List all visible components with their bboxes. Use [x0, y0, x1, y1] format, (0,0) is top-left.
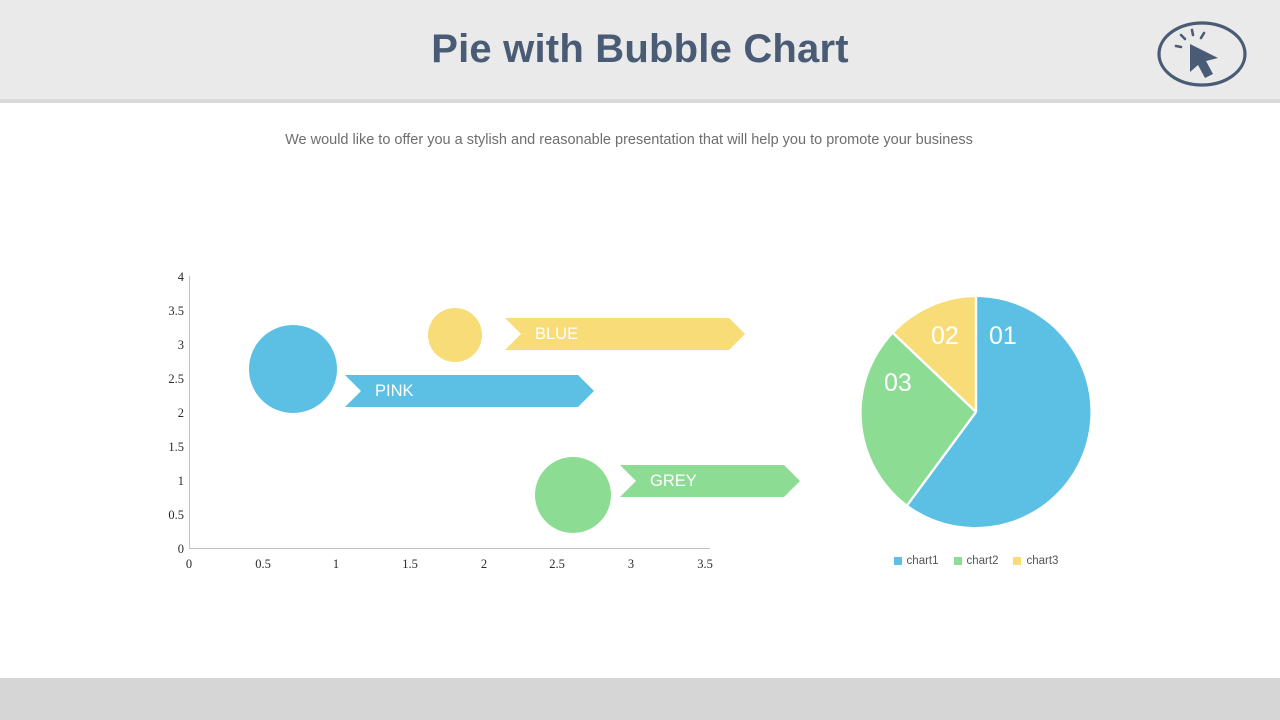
banner-blue[interactable]: BLUE	[505, 318, 745, 350]
legend-item-chart1[interactable]: chart1	[894, 555, 939, 567]
bubble-pink[interactable]	[249, 325, 337, 413]
banner-pink[interactable]: PINK	[345, 375, 594, 407]
y-tick: 3.5	[140, 304, 184, 319]
y-tick: 0	[140, 542, 184, 557]
x-tick: 2	[464, 557, 504, 572]
legend-swatch-icon	[1013, 557, 1021, 565]
legend-swatch-icon	[954, 557, 962, 565]
x-axis-line	[189, 548, 710, 549]
x-tick: 3	[611, 557, 651, 572]
x-tick: 3.5	[685, 557, 725, 572]
subtitle-text: We would like to offer you a stylish and…	[0, 132, 1258, 148]
legend-label: chart3	[1026, 555, 1058, 567]
x-tick: 1.5	[390, 557, 430, 572]
bubble-blue[interactable]	[428, 308, 482, 362]
pie-chart: 01 02 03 chart1 chart2 chart3	[856, 292, 1096, 582]
y-axis-ticks: 4 3.5 3 2.5 2 1.5 1 0.5 0	[140, 265, 184, 548]
y-tick: 2.5	[140, 372, 184, 387]
legend-label: chart1	[907, 555, 939, 567]
legend-item-chart2[interactable]: chart2	[954, 555, 999, 567]
pie-label-02: 02	[931, 322, 959, 351]
banner-grey-label: GREY	[650, 465, 697, 497]
bubble-chart: 4 3.5 3 2.5 2 1.5 1 0.5 0 0 0.5 1 1.5 2 …	[140, 265, 760, 585]
pie-label-03: 03	[884, 369, 912, 398]
banner-pink-label: PINK	[375, 375, 414, 407]
pie-label-01: 01	[989, 322, 1017, 351]
banner-blue-label: BLUE	[535, 318, 578, 350]
header-divider	[0, 99, 1280, 103]
bubble-grey[interactable]	[535, 457, 611, 533]
x-tick: 0	[169, 557, 209, 572]
y-tick: 1	[140, 474, 184, 489]
x-tick: 0.5	[243, 557, 283, 572]
pie-svg[interactable]	[856, 292, 1096, 532]
footer-band	[0, 678, 1280, 720]
pie-legend: chart1 chart2 chart3	[856, 555, 1096, 567]
y-tick: 1.5	[140, 440, 184, 455]
y-tick: 4	[140, 270, 184, 285]
legend-item-chart3[interactable]: chart3	[1013, 555, 1058, 567]
legend-label: chart2	[967, 555, 999, 567]
x-tick: 2.5	[537, 557, 577, 572]
y-axis-line	[189, 276, 190, 548]
cursor-click-icon	[1156, 20, 1248, 88]
x-tick: 1	[316, 557, 356, 572]
banner-grey[interactable]: GREY	[620, 465, 800, 497]
y-tick: 3	[140, 338, 184, 353]
page-title: Pie with Bubble Chart	[0, 27, 1280, 72]
y-tick: 0.5	[140, 508, 184, 523]
legend-swatch-icon	[894, 557, 902, 565]
y-tick: 2	[140, 406, 184, 421]
